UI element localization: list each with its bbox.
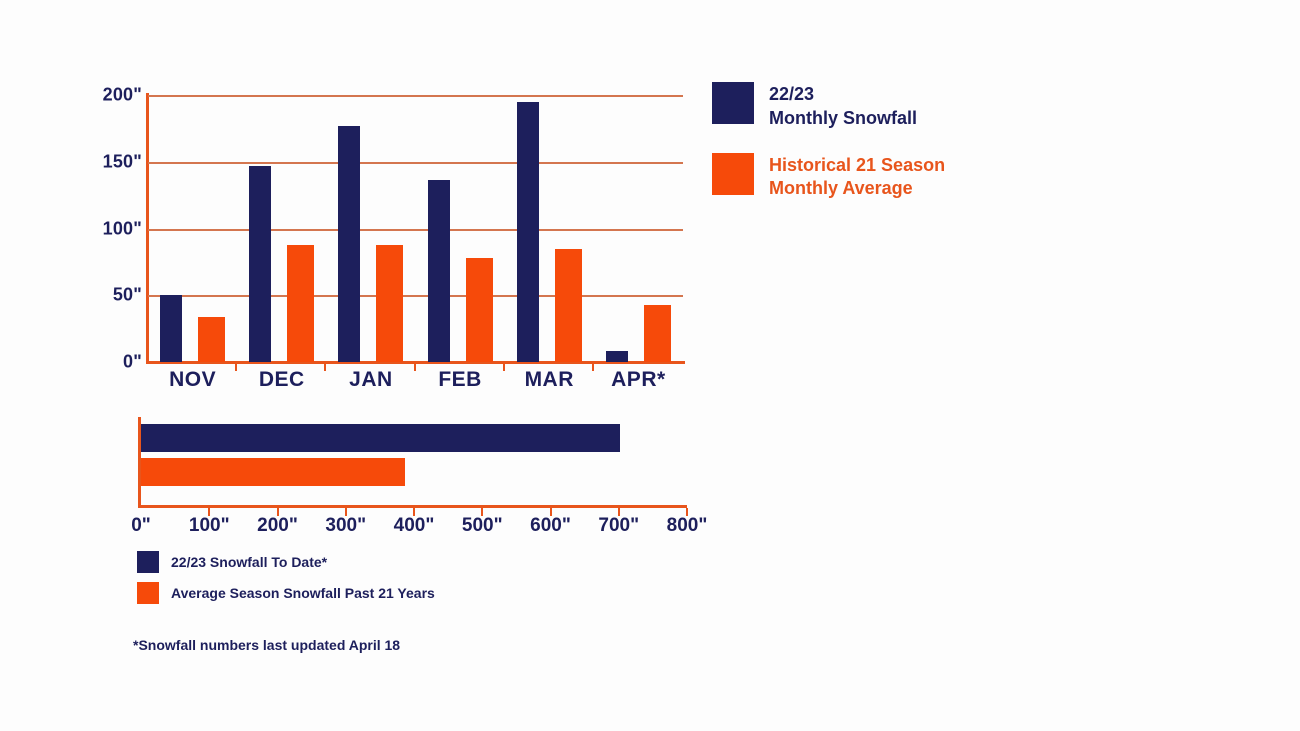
h-x-tick-label: 100" <box>189 515 230 537</box>
h-x-tick-label: 500" <box>462 515 503 537</box>
h-x-tick-label: 700" <box>598 515 639 537</box>
legend-item-historical-average: Historical 21 Season Monthly Average <box>712 153 945 202</box>
x-category-label: FEB <box>416 368 505 392</box>
y-tick-label: 200" <box>103 85 142 106</box>
gridline <box>148 95 683 97</box>
legend-item-snowfall-to-date: 22/23 Snowfall To Date* <box>137 551 435 573</box>
bar-navy <box>606 351 628 362</box>
y-tick-label: 100" <box>103 218 142 239</box>
y-tick-label: 0" <box>123 352 142 373</box>
x-axis-tick <box>324 364 326 371</box>
legend-label-line1: Historical 21 Season <box>769 154 945 178</box>
x-category-label: JAN <box>326 368 415 392</box>
bar-navy <box>517 102 539 362</box>
legend-label-line1: 22/23 <box>769 83 917 107</box>
legend-swatch-navy <box>137 551 159 573</box>
gridline <box>148 162 683 164</box>
h-x-axis-tick <box>413 508 415 516</box>
x-axis-tick <box>503 364 505 371</box>
bar-orange <box>644 305 671 362</box>
x-axis-tick <box>592 364 594 371</box>
h-x-axis-tick <box>481 508 483 516</box>
season-total-chart: 0"100"200"300"400"500"600"700"800" <box>0 405 760 535</box>
x-category-label: APR* <box>594 368 683 392</box>
bar-orange <box>376 245 403 362</box>
h-bar-navy <box>141 424 620 452</box>
bar-navy <box>249 166 271 362</box>
legend-label-line2: Monthly Snowfall <box>769 107 917 131</box>
bar-navy <box>338 126 360 362</box>
legend-label-average-season: Average Season Snowfall Past 21 Years <box>171 585 435 601</box>
x-category-label: NOV <box>148 368 237 392</box>
bar-navy <box>428 180 450 362</box>
plot-area <box>148 95 683 362</box>
x-category-label: DEC <box>237 368 326 392</box>
snowfall-infographic: 200"150"100"50"0" NOVDECJANFEBMARAPR* 22… <box>0 0 1300 731</box>
h-x-tick-label: 300" <box>325 515 366 537</box>
h-x-axis-tick <box>208 508 210 516</box>
h-x-tick-label: 0" <box>131 515 151 537</box>
h-bar-orange <box>141 458 405 486</box>
legend-label-22-23-monthly: 22/23 Monthly Snowfall <box>769 82 917 131</box>
y-axis-tick-labels: 200"150"100"50"0" <box>88 0 142 400</box>
y-tick-label: 150" <box>103 151 142 172</box>
h-x-axis-tick <box>550 508 552 516</box>
season-total-legend: 22/23 Snowfall To Date* Average Season S… <box>137 551 435 613</box>
legend-swatch-orange <box>137 582 159 604</box>
x-axis-tick <box>414 364 416 371</box>
h-x-axis-tick <box>618 508 620 516</box>
legend-swatch-navy <box>712 82 754 124</box>
h-x-axis-tick <box>345 508 347 516</box>
monthly-snowfall-chart: 200"150"100"50"0" NOVDECJANFEBMARAPR* <box>0 0 720 400</box>
gridline <box>148 229 683 231</box>
x-axis-tick <box>235 364 237 371</box>
legend-swatch-orange <box>712 153 754 195</box>
h-x-tick-label: 800" <box>667 515 708 537</box>
legend-label-line2: Monthly Average <box>769 177 945 201</box>
bar-orange <box>198 317 225 362</box>
gridline <box>148 295 683 297</box>
legend-item-average-season: Average Season Snowfall Past 21 Years <box>137 582 435 604</box>
h-x-tick-label: 600" <box>530 515 571 537</box>
h-x-tick-label: 400" <box>394 515 435 537</box>
h-x-axis-tick <box>686 508 688 516</box>
legend-label-historical-average: Historical 21 Season Monthly Average <box>769 153 945 202</box>
legend-item-22-23-monthly: 22/23 Monthly Snowfall <box>712 82 945 131</box>
bar-orange <box>287 245 314 362</box>
bar-orange <box>466 258 493 362</box>
h-x-axis-tick <box>277 508 279 516</box>
h-x-tick-label: 200" <box>257 515 298 537</box>
monthly-chart-legend: 22/23 Monthly Snowfall Historical 21 Sea… <box>712 82 945 223</box>
bar-navy <box>160 295 182 362</box>
footnote-text: *Snowfall numbers last updated April 18 <box>133 637 400 653</box>
bar-orange <box>555 249 582 362</box>
legend-label-snowfall-to-date: 22/23 Snowfall To Date* <box>171 554 327 570</box>
x-category-label: MAR <box>505 368 594 392</box>
y-tick-label: 50" <box>113 285 142 306</box>
